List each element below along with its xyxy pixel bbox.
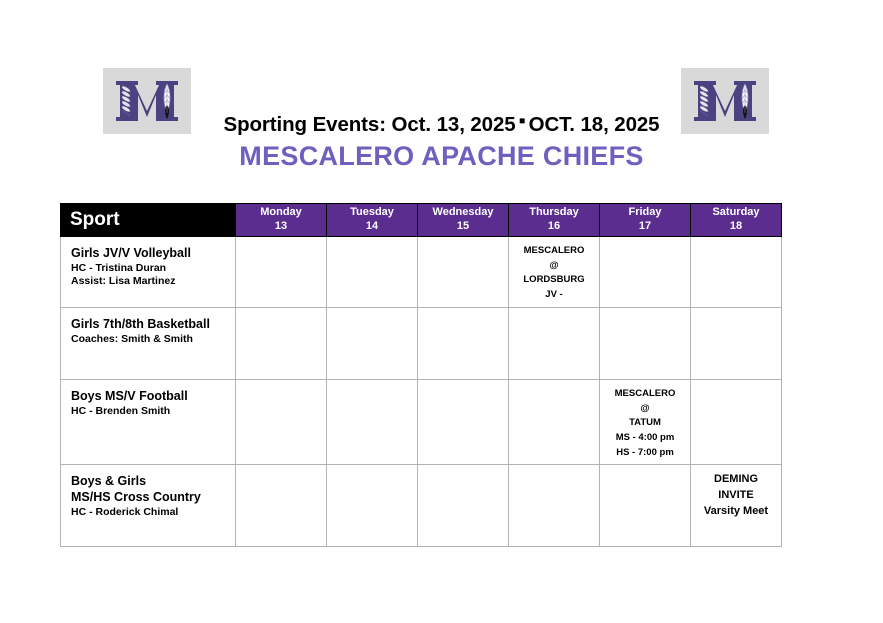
table-row: Boys & Girls MS/HS Cross Country HC - Ro… [61, 465, 782, 547]
schedule-table-body: Girls JV/V Volleyball HC - Tristina Dura… [61, 237, 782, 547]
event-cell-football-thursday[interactable] [509, 379, 600, 465]
sport-cell-football: Boys MS/V Football HC - Brenden Smith [61, 379, 236, 465]
page-title-suffix: OCT. 18, 2025 [529, 113, 660, 136]
event-cell-volleyball-monday[interactable] [236, 237, 327, 308]
event-cell-basketball-wednesday[interactable] [418, 307, 509, 379]
event-text: DEMING INVITE Varsity Meet [694, 472, 778, 520]
event-cell-cross-country-saturday[interactable]: DEMING INVITE Varsity Meet [691, 465, 782, 547]
event-cell-basketball-saturday[interactable] [691, 307, 782, 379]
event-cell-basketball-friday[interactable] [600, 307, 691, 379]
page-title: Sporting Events: Oct. 13, 2025▪OCT. 18, … [0, 110, 883, 137]
sport-cell-cross-country: Boys & Girls MS/HS Cross Country HC - Ro… [61, 465, 236, 547]
event-cell-volleyball-saturday[interactable] [691, 237, 782, 308]
day-name: Wednesday [433, 206, 494, 218]
event-cell-football-monday[interactable] [236, 379, 327, 465]
day-number: 16 [509, 220, 599, 234]
event-cell-football-wednesday[interactable] [418, 379, 509, 465]
page-header: Sporting Events: Oct. 13, 2025▪OCT. 18, … [0, 0, 883, 190]
event-cell-volleyball-friday[interactable] [600, 237, 691, 308]
event-cell-basketball-monday[interactable] [236, 307, 327, 379]
day-name: Monday [260, 206, 302, 218]
column-header-monday: Monday 13 [236, 204, 327, 237]
event-cell-basketball-thursday[interactable] [509, 307, 600, 379]
day-name: Tuesday [350, 206, 394, 218]
table-row: Boys MS/V Football HC - Brenden Smith ME… [61, 379, 782, 465]
sport-staff: HC - Roderick Chimal [71, 506, 235, 520]
day-name: Saturday [712, 206, 759, 218]
table-row: Girls 7th/8th Basketball Coaches: Smith … [61, 307, 782, 379]
header-row: Sport Monday 13 Tuesday 14 Wednesday 15 … [61, 204, 782, 237]
column-header-friday: Friday 17 [600, 204, 691, 237]
event-cell-football-saturday[interactable] [691, 379, 782, 465]
event-cell-basketball-tuesday[interactable] [327, 307, 418, 379]
sport-cell-volleyball: Girls JV/V Volleyball HC - Tristina Dura… [61, 237, 236, 308]
column-header-thursday: Thursday 16 [509, 204, 600, 237]
event-cell-volleyball-tuesday[interactable] [327, 237, 418, 308]
sport-staff: HC - Tristina Duran [71, 262, 235, 276]
day-name: Thursday [529, 206, 579, 218]
sport-staff: Assist: Lisa Martinez [71, 275, 235, 289]
day-number: 17 [600, 220, 690, 234]
sport-name: Boys & Girls MS/HS Cross Country [71, 474, 235, 505]
event-cell-volleyball-wednesday[interactable] [418, 237, 509, 308]
schedule-table: Sport Monday 13 Tuesday 14 Wednesday 15 … [60, 203, 782, 547]
column-header-saturday: Saturday 18 [691, 204, 782, 237]
page-title-separator: ▪ [516, 110, 529, 133]
schedule-table-head: Sport Monday 13 Tuesday 14 Wednesday 15 … [61, 204, 782, 237]
day-number: 15 [418, 220, 508, 234]
sport-staff: HC - Brenden Smith [71, 405, 235, 419]
sport-cell-basketball: Girls 7th/8th Basketball Coaches: Smith … [61, 307, 236, 379]
day-number: 13 [236, 220, 326, 234]
event-text: MESCALERO @ TATUM MS - 4:00 pm HS - 7:00… [603, 387, 687, 461]
sport-name: Girls 7th/8th Basketball [71, 317, 235, 333]
page-subtitle: MESCALERO APACHE CHIEFS [0, 141, 883, 172]
schedule-table-wrapper: Sport Monday 13 Tuesday 14 Wednesday 15 … [60, 203, 781, 547]
sport-name: Girls JV/V Volleyball [71, 246, 235, 262]
event-cell-cross-country-thursday[interactable] [509, 465, 600, 547]
day-name: Friday [628, 206, 661, 218]
day-number: 18 [691, 220, 781, 234]
column-header-wednesday: Wednesday 15 [418, 204, 509, 237]
event-text: MESCALERO @ LORDSBURG JV - [512, 244, 596, 303]
event-cell-cross-country-tuesday[interactable] [327, 465, 418, 547]
day-number: 14 [327, 220, 417, 234]
event-cell-cross-country-friday[interactable] [600, 465, 691, 547]
table-row: Girls JV/V Volleyball HC - Tristina Dura… [61, 237, 782, 308]
column-header-sport: Sport [61, 204, 236, 237]
event-cell-cross-country-wednesday[interactable] [418, 465, 509, 547]
event-cell-cross-country-monday[interactable] [236, 465, 327, 547]
sport-staff: Coaches: Smith & Smith [71, 333, 235, 347]
event-cell-football-tuesday[interactable] [327, 379, 418, 465]
page-title-prefix: Sporting Events: Oct. 13, 2025 [224, 113, 516, 136]
event-cell-football-friday[interactable]: MESCALERO @ TATUM MS - 4:00 pm HS - 7:00… [600, 379, 691, 465]
column-header-tuesday: Tuesday 14 [327, 204, 418, 237]
sport-name: Boys MS/V Football [71, 389, 235, 405]
event-cell-volleyball-thursday[interactable]: MESCALERO @ LORDSBURG JV - [509, 237, 600, 308]
